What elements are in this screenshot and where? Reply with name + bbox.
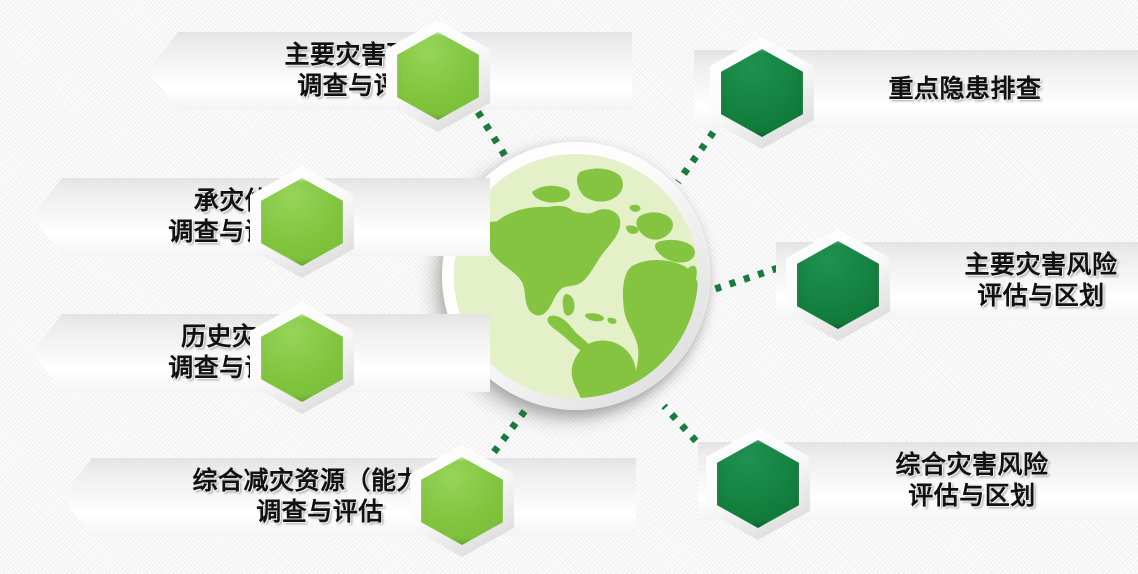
hexagon-historical-disaster-survey[interactable] [250,302,354,414]
label-key-hazard-inspection: 重点隐患排查 [888,74,1041,105]
hexagon-major-hazard-risk-assessment[interactable] [786,229,890,341]
diagram-canvas: 主要灾害致灾 调查与评估 重点隐患排查 承灾体 调查与评估 主要灾害风险 评估与… [0,0,1138,574]
node-hazard-bearing-body-survey[interactable]: 承灾体 调查与评估 [32,178,490,256]
hexagon-hazard-bearing-body-survey[interactable] [250,166,354,278]
node-comprehensive-hazard-risk-assessment[interactable]: 综合灾害风险 评估与区划 [698,442,1138,520]
banner-comprehensive-mitigation-resources-survey[interactable]: 综合减灾资源（能力） 调查与评估 [62,458,636,536]
node-major-hazard-survey[interactable]: 主要灾害致灾 调查与评估 [148,32,632,110]
label-comprehensive-hazard-risk-assessment: 综合灾害风险 评估与区划 [895,450,1048,512]
node-key-hazard-inspection[interactable]: 重点隐患排查 [694,50,1138,128]
node-historical-disaster-survey[interactable]: 历史灾害 调查与评估 [32,314,490,392]
hexagon-comprehensive-mitigation-resources-survey[interactable] [410,445,514,557]
hexagon-major-hazard-survey[interactable] [386,20,490,132]
label-major-hazard-risk-assessment: 主要灾害风险 评估与区划 [964,250,1117,312]
globe-disc [454,154,698,398]
node-major-hazard-risk-assessment[interactable]: 主要灾害风险 评估与区划 [776,242,1138,320]
hexagon-comprehensive-hazard-risk-assessment[interactable] [706,428,810,540]
node-comprehensive-mitigation-resources-survey[interactable]: 综合减灾资源（能力） 调查与评估 [62,458,636,536]
globe-map-icon [454,154,698,398]
hexagon-key-hazard-inspection[interactable] [710,37,814,149]
connector-line-major-hazard-risk-assessment [706,268,778,292]
